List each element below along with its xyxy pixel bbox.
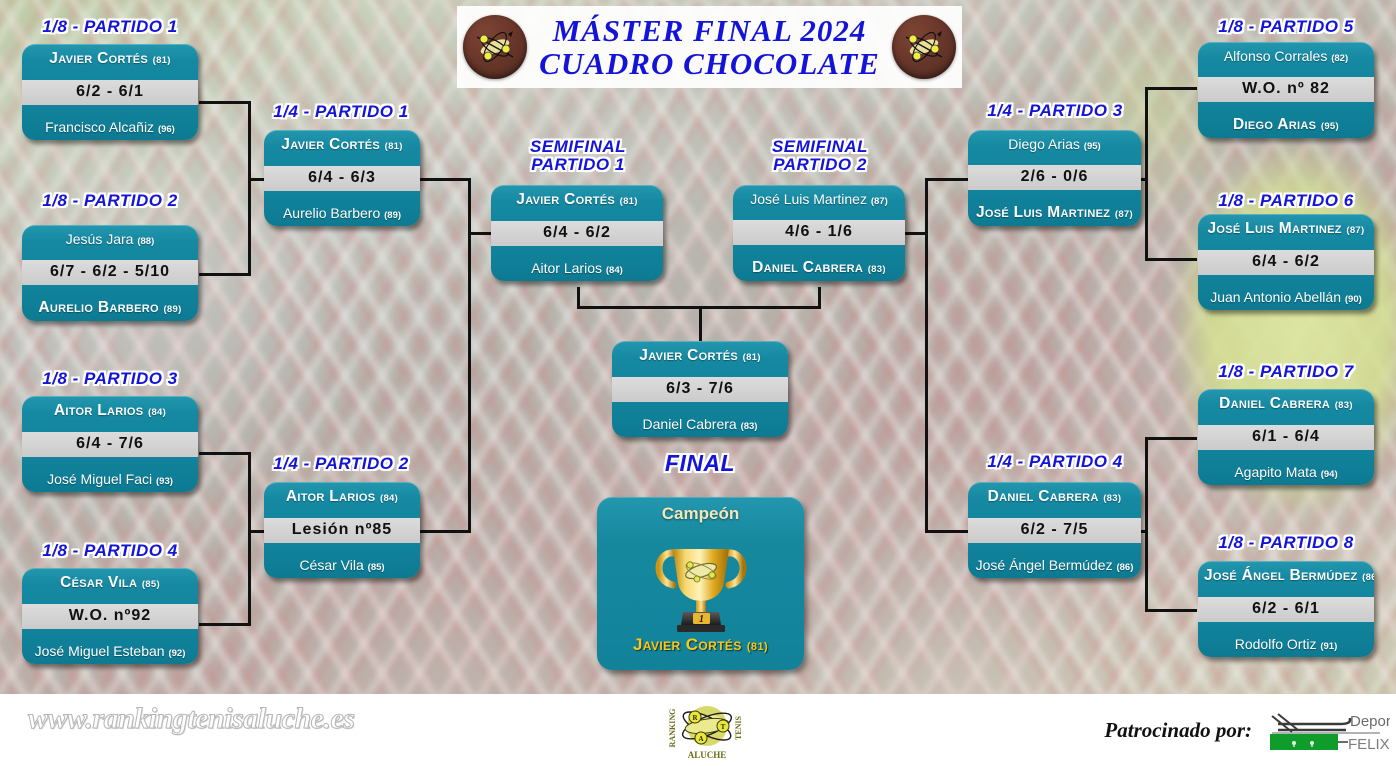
match-score: 6/1 - 6/4	[1198, 425, 1374, 450]
player-loser: Alfonso Corrales (82)	[1198, 42, 1374, 70]
player-winner: César Vila (85)	[22, 568, 198, 597]
title-banner: MÁSTER FINAL 2024 CUADRO CHOCOLATE	[457, 6, 962, 88]
svg-text:T: T	[721, 723, 726, 731]
match-score: 6/2 - 6/1	[1198, 597, 1374, 622]
round-label-r16-4: 1/8 - PARTIDO 4	[20, 542, 200, 560]
champion-label: Campeón	[662, 504, 739, 524]
player-winner: José Luis Martinez (87)	[1198, 214, 1374, 243]
player-loser: Daniel Cabrera (83)	[612, 410, 788, 438]
player-winner: Diego Arias (95)	[1198, 110, 1374, 139]
player-winner: Daniel Cabrera (83)	[968, 482, 1141, 511]
svg-text:Deportes: Deportes	[1350, 713, 1390, 730]
round-label-qf-1: 1/4 - PARTIDO 1	[251, 103, 431, 121]
player-winner: Javier Cortés (81)	[22, 44, 198, 73]
match-score: 6/2 - 7/5	[968, 518, 1141, 543]
player-winner: José Ángel Bermúdez (86)	[1198, 561, 1374, 590]
svg-text:ALUCHE: ALUCHE	[688, 750, 727, 760]
match-box-r16-5[interactable]: Alfonso Corrales (82) W.O. nº 82 Diego A…	[1198, 42, 1374, 138]
round-label-qf-3: 1/4 - PARTIDO 3	[965, 102, 1145, 120]
match-score: 6/7 - 6/2 - 5/10	[22, 260, 198, 285]
player-loser: Aurelio Barbero (89)	[264, 199, 420, 227]
chocolate-tennis-logo-right	[892, 15, 956, 79]
round-label-r16-7: 1/8 - PARTIDO 7	[1196, 363, 1376, 381]
match-score: 2/6 - 0/6	[968, 165, 1141, 190]
round-label-sf-2: SEMIFINAL PARTIDO 2	[735, 138, 905, 174]
player-loser: Agapito Mata (94)	[1198, 458, 1374, 486]
match-box-r16-4[interactable]: César Vila (85) W.O. nº92 José Miguel Es…	[22, 568, 198, 664]
player-winner: Daniel Cabrera (83)	[1198, 389, 1374, 418]
match-box-sf-2[interactable]: José Luis Martinez (87) 4/6 - 1/6 Daniel…	[733, 185, 905, 281]
round-label-qf-4: 1/4 - PARTIDO 4	[965, 453, 1145, 471]
player-loser: José Ángel Bermúdez (86)	[968, 551, 1141, 579]
player-winner: Javier Cortés (81)	[491, 185, 663, 214]
match-score: 4/6 - 1/6	[733, 220, 905, 245]
player-loser: César Vila (85)	[264, 551, 420, 579]
deportes-felix-logo[interactable]: Deportes FELIX	[1262, 706, 1390, 754]
match-box-qf-4[interactable]: Daniel Cabrera (83) 6/2 - 7/5 José Ángel…	[968, 482, 1141, 578]
match-score: 6/4 - 7/6	[22, 432, 198, 457]
champion-box[interactable]: Campeón	[597, 497, 804, 670]
trophy-icon: 1	[649, 525, 753, 633]
match-score: W.O. nº92	[22, 604, 198, 629]
round-label-sf-1: SEMIFINAL PARTIDO 1	[493, 138, 663, 174]
player-loser: José Miguel Esteban (92)	[22, 637, 198, 665]
round-label-r16-2: 1/8 - PARTIDO 2	[20, 192, 200, 210]
tournament-bracket-poster: 1/8 - PARTIDO 1 1/8 - PARTIDO 2 1/8 - PA…	[0, 0, 1396, 766]
match-box-r16-8[interactable]: José Ángel Bermúdez (86) 6/2 - 6/1 Rodol…	[1198, 561, 1374, 657]
champion-name: Javier Cortés (81)	[633, 635, 768, 655]
round-label-qf-2: 1/4 - PARTIDO 2	[251, 455, 431, 473]
match-box-qf-3[interactable]: Diego Arias (95) 2/6 - 0/6 José Luis Mar…	[968, 130, 1141, 226]
player-winner: Aitor Larios (84)	[22, 396, 198, 425]
match-score: 6/3 - 7/6	[612, 377, 788, 402]
ranking-tenis-aluche-logo: R T A RANKING TENIS ALUCHE	[655, 698, 760, 762]
player-winner: Aitor Larios (84)	[264, 482, 420, 511]
svg-text:FELIX: FELIX	[1348, 736, 1390, 753]
player-winner: José Luis Martinez (87)	[968, 198, 1141, 227]
round-label-r16-3: 1/8 - PARTIDO 3	[20, 370, 200, 388]
match-score: 6/4 - 6/2	[491, 221, 663, 246]
player-loser: José Luis Martinez (87)	[733, 185, 905, 213]
svg-text:RANKING: RANKING	[668, 709, 677, 748]
match-score: 6/4 - 6/2	[1198, 250, 1374, 275]
match-box-r16-2[interactable]: Jesús Jara (88) 6/7 - 6/2 - 5/10 Aurelio…	[22, 225, 198, 321]
match-box-qf-2[interactable]: Aitor Larios (84) Lesión nº85 César Vila…	[264, 482, 420, 578]
player-winner: Javier Cortés (81)	[264, 130, 420, 159]
match-score: 6/4 - 6/3	[264, 166, 420, 191]
match-score: Lesión nº85	[264, 518, 420, 543]
round-label-r16-6: 1/8 - PARTIDO 6	[1196, 192, 1376, 210]
svg-text:A: A	[698, 735, 703, 743]
match-box-final[interactable]: Javier Cortés (81) 6/3 - 7/6 Daniel Cabr…	[612, 341, 788, 437]
player-winner: Aurelio Barbero (89)	[22, 293, 198, 322]
player-loser: Jesús Jara (88)	[22, 225, 198, 253]
match-score: W.O. nº 82	[1198, 77, 1374, 102]
match-box-qf-1[interactable]: Javier Cortés (81) 6/4 - 6/3 Aurelio Bar…	[264, 130, 420, 226]
player-loser: Diego Arias (95)	[968, 130, 1141, 158]
round-label-r16-5: 1/8 - PARTIDO 5	[1196, 18, 1376, 36]
player-loser: Francisco Alcañiz (96)	[22, 113, 198, 141]
match-score: 6/2 - 6/1	[22, 80, 198, 105]
chocolate-tennis-logo-left	[463, 15, 527, 79]
website-url[interactable]: www.rankingtenisaluche.es	[28, 702, 354, 736]
svg-text:1: 1	[699, 614, 704, 625]
round-label-final: FINAL	[640, 451, 760, 475]
player-loser: Aitor Larios (84)	[491, 254, 663, 282]
player-winner: Javier Cortés (81)	[612, 341, 788, 370]
footer-bar: www.rankingtenisaluche.es R T A RANKING …	[0, 694, 1396, 766]
sponsor-label: Patrocinado por:	[1104, 718, 1252, 743]
match-box-r16-7[interactable]: Daniel Cabrera (83) 6/1 - 6/4 Agapito Ma…	[1198, 389, 1374, 485]
match-box-r16-1[interactable]: Javier Cortés (81) 6/2 - 6/1 Francisco A…	[22, 44, 198, 140]
round-label-r16-8: 1/8 - PARTIDO 8	[1196, 534, 1376, 552]
player-loser: José Miguel Faci (93)	[22, 465, 198, 493]
sponsor-area: Patrocinado por: Deportes FELIX	[1104, 706, 1390, 754]
match-box-r16-6[interactable]: José Luis Martinez (87) 6/4 - 6/2 Juan A…	[1198, 214, 1374, 310]
player-winner: Daniel Cabrera (83)	[733, 253, 905, 282]
match-box-sf-1[interactable]: Javier Cortés (81) 6/4 - 6/2 Aitor Lario…	[491, 185, 663, 281]
player-loser: Rodolfo Ortiz (91)	[1198, 630, 1374, 658]
banner-title: MÁSTER FINAL 2024 CUADRO CHOCOLATE	[527, 14, 892, 80]
svg-text:TENIS: TENIS	[734, 715, 743, 740]
match-box-r16-3[interactable]: Aitor Larios (84) 6/4 - 7/6 José Miguel …	[22, 396, 198, 492]
round-label-r16-1: 1/8 - PARTIDO 1	[20, 18, 200, 36]
player-loser: Juan Antonio Abellán (90)	[1198, 283, 1374, 311]
